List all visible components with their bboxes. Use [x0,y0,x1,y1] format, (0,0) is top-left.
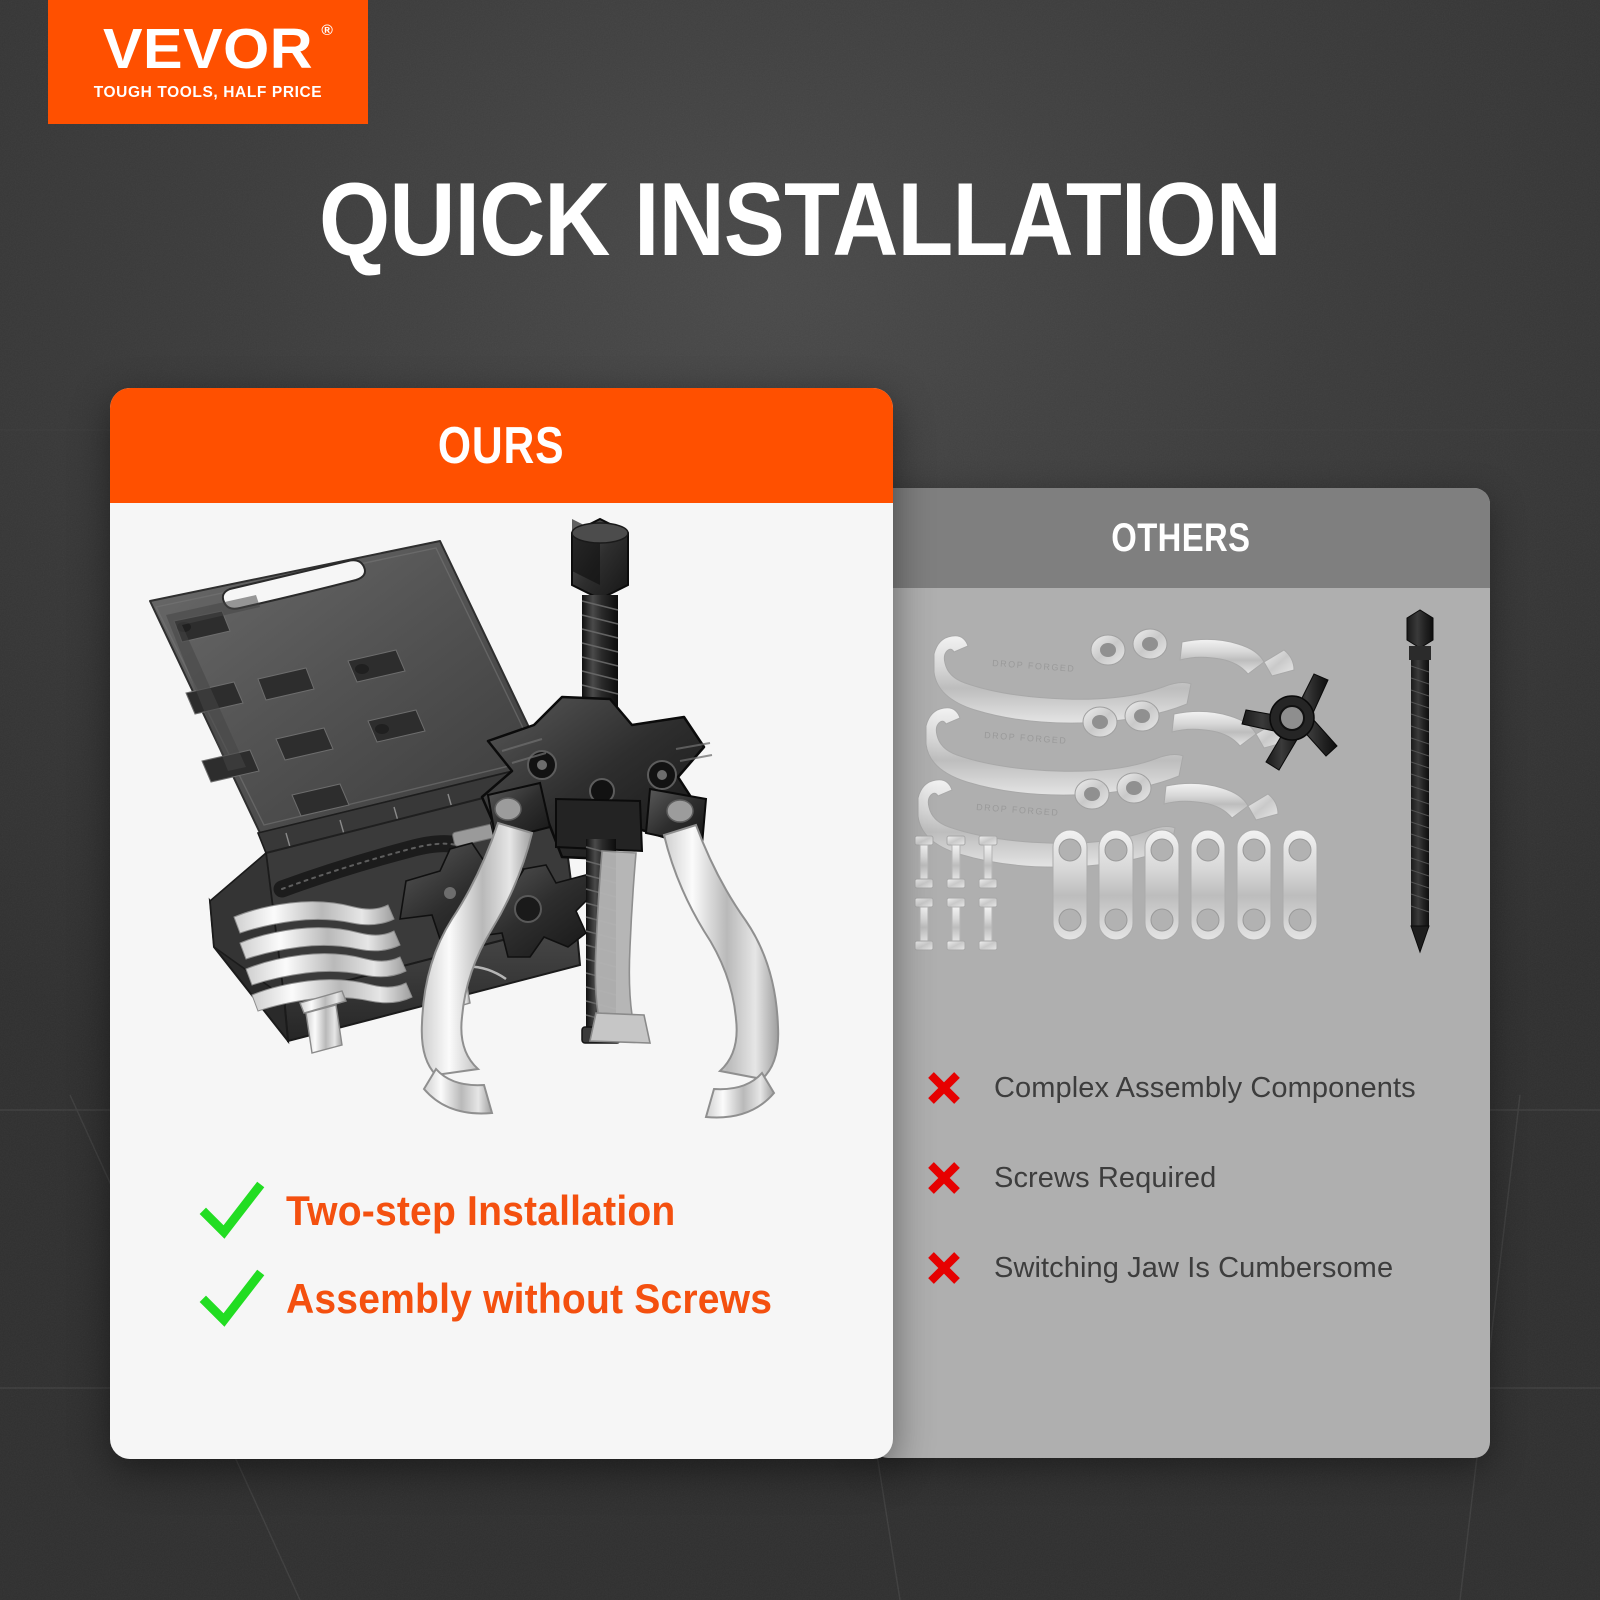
feature-label: Assembly without Screws [286,1275,772,1323]
list-item: Two-step Installation [198,1178,809,1244]
forcing-screw-part [1407,610,1433,952]
cross-icon [924,1158,964,1198]
jaw-parts: DROP FORGED DROP FORGED [918,629,1294,867]
others-panel: OTHERS [872,488,1490,1458]
list-item: Complex Assembly Components [924,1068,1470,1108]
svg-text:DROP FORGED: DROP FORGED [984,730,1068,746]
brand-wordmark: VEVOR ® [103,22,313,76]
brand-tagline: TOUGH TOOLS, HALF PRICE [94,84,323,102]
svg-text:DROP FORGED: DROP FORGED [976,802,1060,818]
drawback-label: Screws Required [994,1162,1216,1195]
check-icon [198,1178,264,1244]
list-item: Assembly without Screws [198,1266,809,1332]
others-panel-header: OTHERS [872,488,1490,588]
vevor-logo: VEVOR ® TOUGH TOOLS, HALF PRICE [48,0,368,124]
cross-icon [924,1248,964,1288]
ours-product-image [110,503,893,1163]
drawback-label: Complex Assembly Components [994,1072,1416,1105]
others-panel-title: OTHERS [1111,516,1250,561]
page-title: QUICK INSTALLATION [96,166,1504,274]
others-drawback-list: Complex Assembly Components Screws Requi… [924,1068,1470,1338]
ours-panel-title: OURS [438,416,564,476]
list-item: Screws Required [924,1158,1470,1198]
list-item: Switching Jaw Is Cumbersome [924,1248,1470,1288]
ours-panel: OURS [110,388,893,1459]
spider-yoke-part [1242,674,1337,770]
brand-wordmark-text: VEVOR [103,17,313,81]
check-icon [198,1266,264,1332]
drawback-label: Switching Jaw Is Cumbersome [994,1252,1393,1285]
loose-parts-illustration: DROP FORGED DROP FORGED [872,588,1490,1058]
svg-text:DROP FORGED: DROP FORGED [992,658,1076,674]
ours-panel-header: OURS [110,388,893,503]
bolt-parts [915,836,997,950]
feature-label: Two-step Installation [286,1187,675,1235]
others-parts-image: DROP FORGED DROP FORGED [872,588,1490,1058]
cross-icon [924,1068,964,1108]
registered-trademark-icon: ® [321,24,333,38]
ours-feature-list: Two-step Installation Assembly without S… [198,1178,809,1354]
gear-puller-set-illustration [110,503,893,1163]
